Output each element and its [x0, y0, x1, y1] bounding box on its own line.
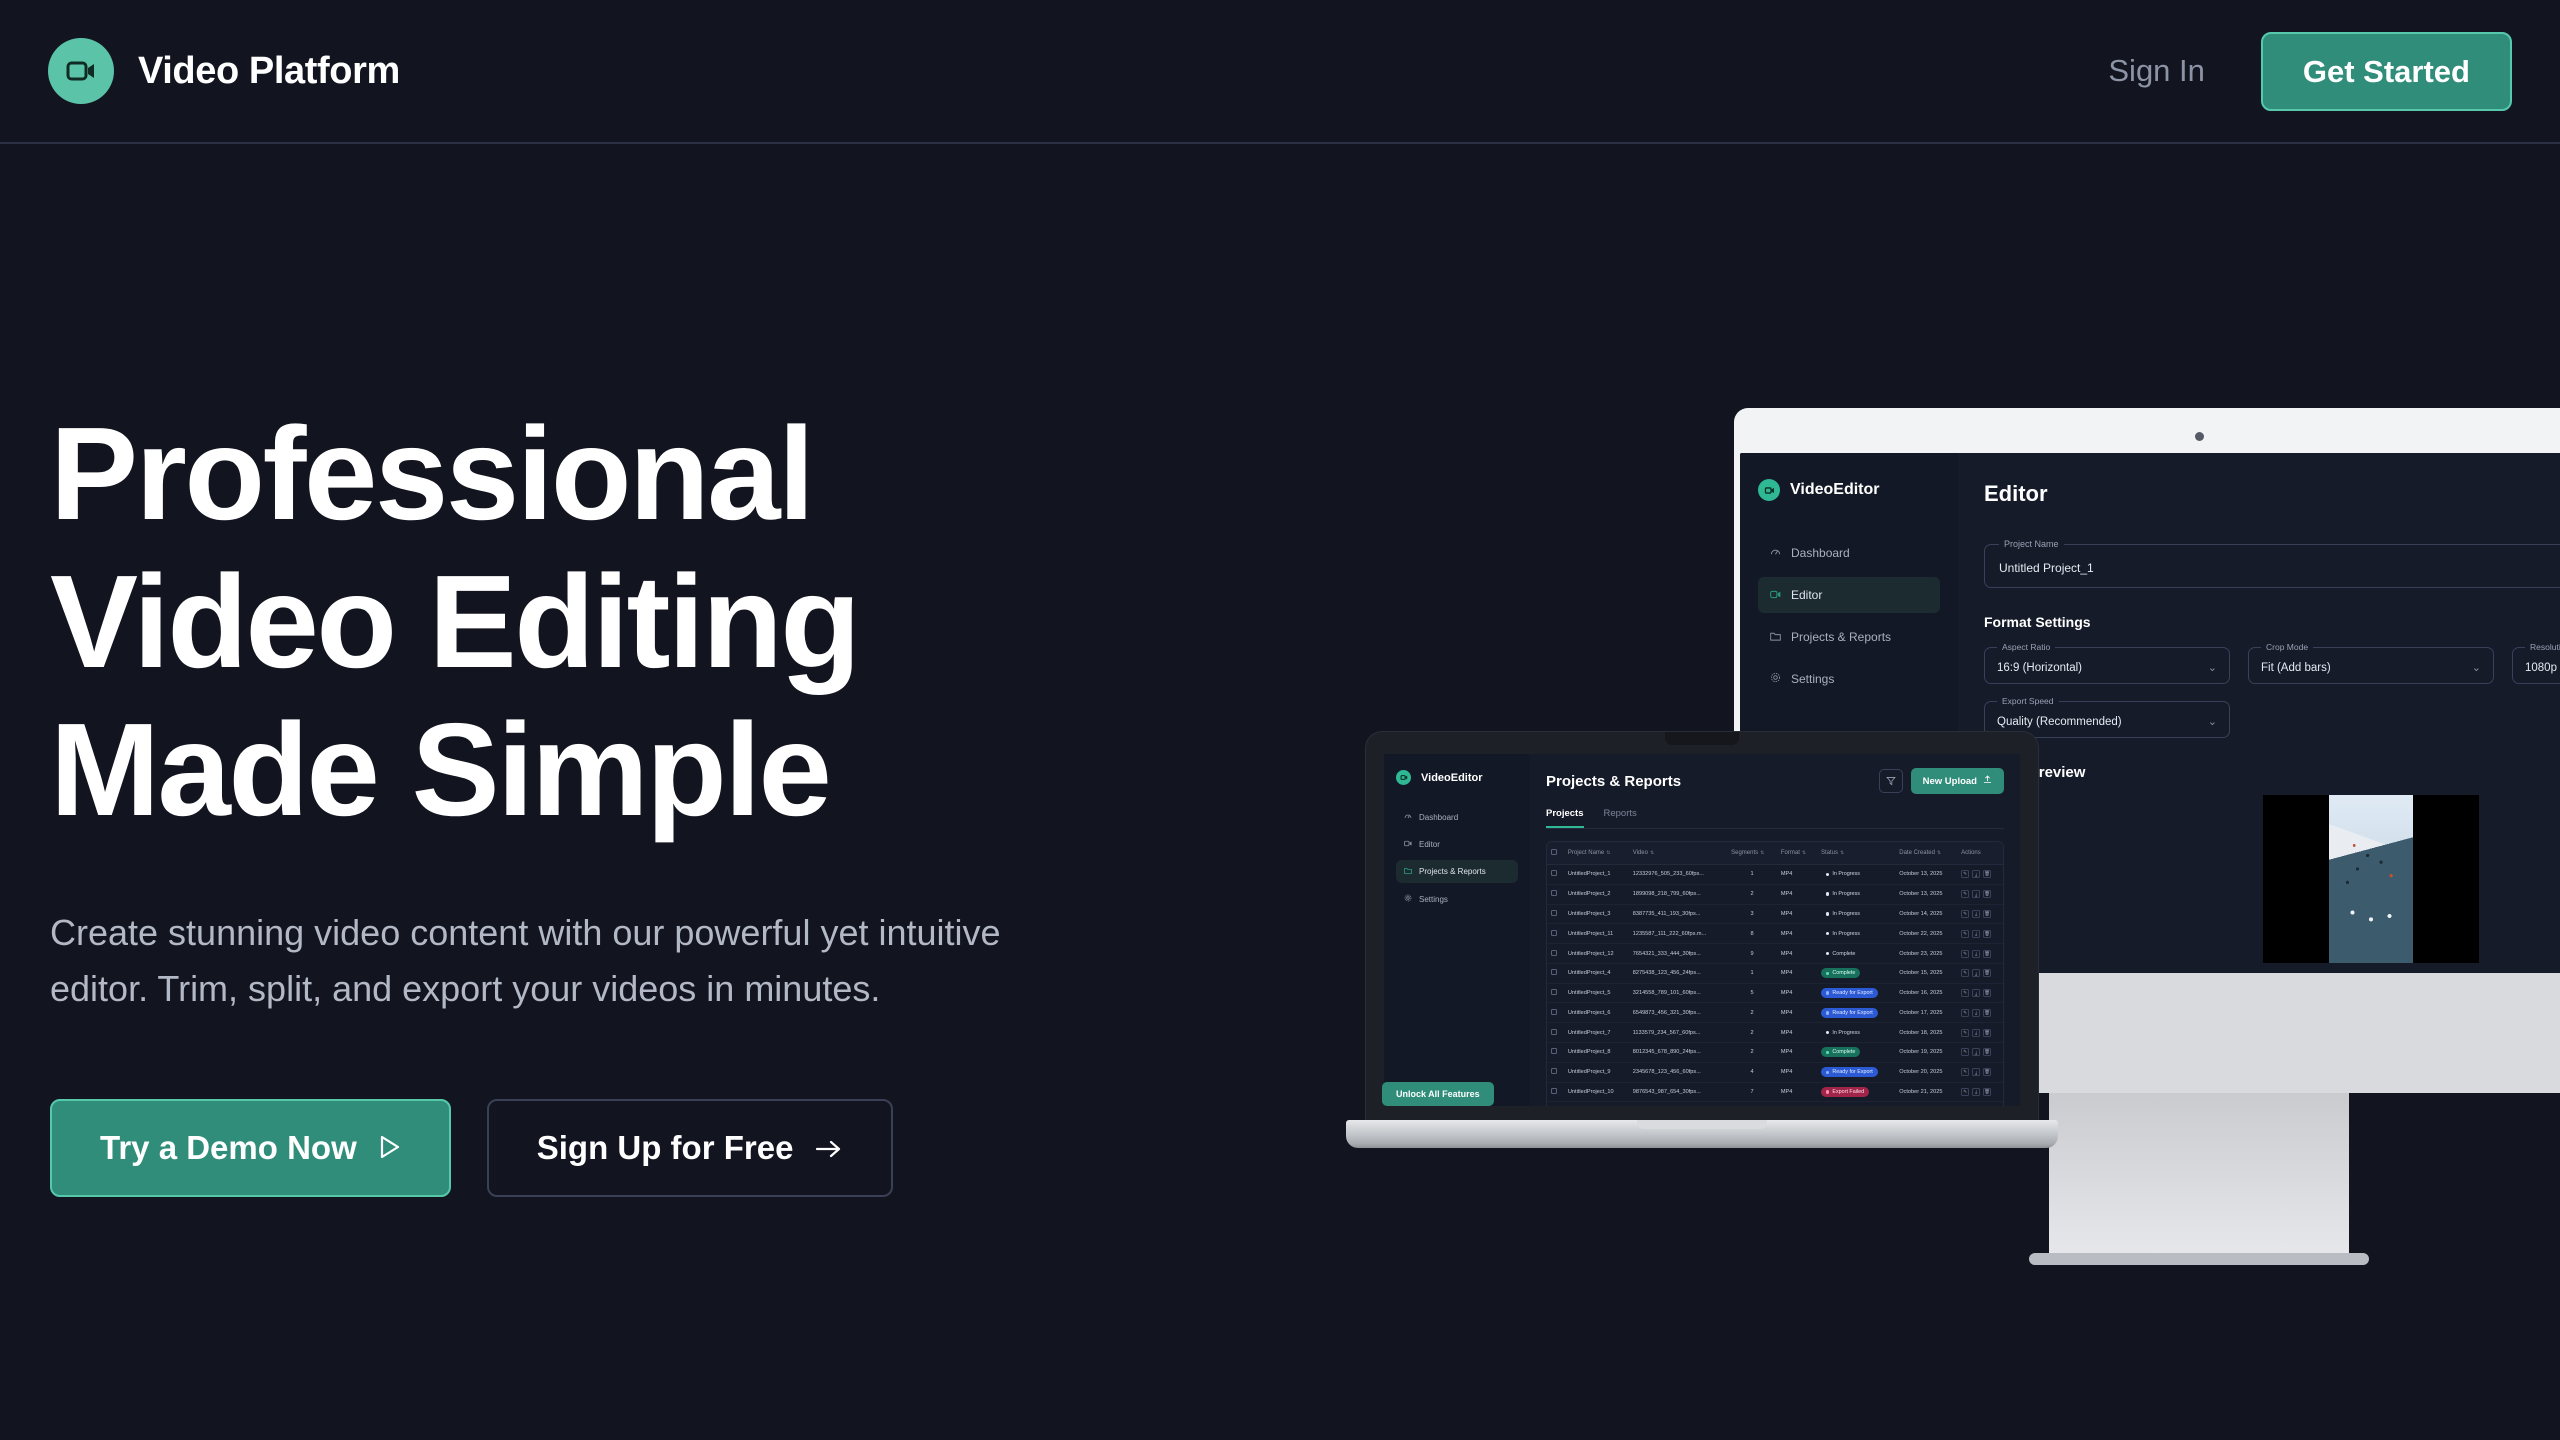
- filter-icon[interactable]: [1879, 769, 1903, 793]
- delete-icon[interactable]: 🗑: [1983, 1048, 1991, 1056]
- cell-actions[interactable]: ✎⤓🗑: [1957, 904, 2003, 924]
- cell-date-created: October 22, 2025: [1895, 924, 1957, 944]
- sidebar-item-editor[interactable]: Editor: [1758, 577, 1940, 613]
- status-label: In Progress: [1832, 911, 1860, 917]
- page-title: Professional Video Editing Made Simple: [50, 400, 1200, 843]
- new-upload-label: New Upload: [1923, 776, 1977, 787]
- sidebar-label: Settings: [1419, 895, 1448, 904]
- checkbox-icon[interactable]: [1551, 1048, 1557, 1054]
- checkbox-icon[interactable]: [1551, 1009, 1557, 1015]
- cell-video: 8012345_678_890_24fps...: [1629, 1043, 1727, 1063]
- sign-in-link[interactable]: Sign In: [2108, 53, 2205, 89]
- status-label: In Progress: [1832, 1030, 1860, 1036]
- unlock-all-features-button[interactable]: Unlock All Features: [1384, 1082, 1494, 1106]
- status-dot-icon: [1826, 952, 1829, 955]
- cell-video: 9876543_987_654_30fps...: [1629, 1082, 1727, 1102]
- cell-select[interactable]: [1547, 944, 1564, 964]
- projects-table-wrapper: Project Name⇅ Video⇅ Segments⇅ Format⇅ S…: [1546, 841, 2004, 1106]
- cell-select[interactable]: [1547, 1043, 1564, 1063]
- tab-reports[interactable]: Reports: [1604, 808, 1637, 828]
- download-icon[interactable]: ⤓: [1972, 870, 1980, 878]
- cell-actions[interactable]: ✎⤓🗑: [1957, 944, 2003, 964]
- delete-icon[interactable]: 🗑: [1983, 910, 1991, 918]
- cell-segments: 10: [1727, 1102, 1777, 1106]
- upload-icon: [1983, 775, 1992, 787]
- crop-mode-label: Crop Mode: [2261, 642, 2313, 652]
- download-icon[interactable]: ⤓: [1972, 950, 1980, 958]
- new-upload-button[interactable]: New Upload: [1911, 768, 2004, 794]
- cell-format: MP4: [1777, 904, 1817, 924]
- sidebar-label: Editor: [1791, 588, 1822, 602]
- edit-icon[interactable]: ✎: [1961, 950, 1969, 958]
- cell-project-name: UntitledProject_3: [1564, 904, 1629, 924]
- editor-nav: Dashboard Editor Projects: [1758, 535, 1940, 697]
- cell-format: MP4: [1777, 1003, 1817, 1023]
- projects-header: Projects & Reports New Upload: [1546, 768, 2004, 794]
- cell-project-name: UntitledProject_11: [1564, 924, 1629, 944]
- cell-status: In Progress: [1817, 884, 1895, 904]
- cell-format: MP4: [1777, 865, 1817, 885]
- status-badge: Export Failed: [1821, 1087, 1869, 1097]
- download-icon[interactable]: ⤓: [1972, 989, 1980, 997]
- cell-actions[interactable]: ✎⤓🗑: [1957, 865, 2003, 885]
- download-icon[interactable]: ⤓: [1972, 1068, 1980, 1076]
- status-badge: Ready for Export: [1821, 988, 1878, 998]
- cell-status: Ready for Export: [1817, 1102, 1895, 1106]
- table-row[interactable]: UntitledProject_71133579_234_567_60fps..…: [1547, 1023, 2003, 1043]
- th-segments[interactable]: Segments⇅: [1727, 842, 1777, 865]
- cell-video: 7654321_333_444_30fps...: [1629, 944, 1727, 964]
- sort-icon: ⇅: [1606, 850, 1610, 856]
- cell-date-created: October 13, 2025: [1895, 865, 1957, 885]
- status-badge: Ready for Export: [1821, 1067, 1878, 1077]
- sidebar-item-dashboard[interactable]: Dashboard: [1396, 805, 1518, 829]
- cell-select[interactable]: [1547, 924, 1564, 944]
- format-settings-heading: Format Settings: [1984, 614, 2560, 630]
- project-name-value: Untitled Project_1: [1999, 561, 2560, 575]
- projects-page-title: Projects & Reports: [1546, 773, 1681, 790]
- status-badge: Complete: [1821, 949, 1860, 959]
- cell-format: MP4: [1777, 884, 1817, 904]
- status-label: In Progress: [1832, 931, 1860, 937]
- cell-segments: 5: [1727, 983, 1777, 1003]
- cell-date-created: October 23, 2025: [1895, 944, 1957, 964]
- cell-segments: 2: [1727, 884, 1777, 904]
- status-dot-icon: [1826, 1071, 1829, 1074]
- status-badge: Ready for Export: [1821, 1008, 1878, 1018]
- table-row[interactable]: UntitledProject_111235587_111_222_60fps.…: [1547, 924, 2003, 944]
- sort-icon: ⇅: [1802, 850, 1806, 856]
- cell-actions[interactable]: ✎⤓🗑: [1957, 924, 2003, 944]
- chevron-down-icon: ⌄: [2208, 661, 2217, 674]
- video-icon: [1404, 840, 1412, 849]
- status-label: Complete: [1832, 951, 1855, 957]
- sort-icon: ⇅: [1840, 850, 1844, 856]
- cell-video: 3214558_789_101_60fps...: [1629, 983, 1727, 1003]
- table-row[interactable]: UntitledProject_53214558_789_101_60fps..…: [1547, 983, 2003, 1003]
- sort-icon: ⇅: [1650, 850, 1654, 856]
- project-name-label: Project Name: [1999, 539, 2064, 549]
- status-badge: In Progress: [1821, 889, 1865, 899]
- checkbox-icon[interactable]: [1551, 1029, 1557, 1035]
- cell-segments: 2: [1727, 1043, 1777, 1063]
- table-row[interactable]: UntitledProject_88012345_678_890_24fps..…: [1547, 1043, 2003, 1063]
- download-icon[interactable]: ⤓: [1972, 930, 1980, 938]
- sidebar-item-settings[interactable]: Settings: [1396, 887, 1518, 911]
- cell-actions[interactable]: ✎⤓🗑: [1957, 963, 2003, 983]
- download-icon[interactable]: ⤓: [1972, 1048, 1980, 1056]
- edit-icon[interactable]: ✎: [1961, 1068, 1969, 1076]
- resolution-label: Resolution: [2525, 642, 2560, 652]
- cell-status: Ready for Export: [1817, 983, 1895, 1003]
- delete-icon[interactable]: 🗑: [1983, 890, 1991, 898]
- sign-up-free-label: Sign Up for Free: [537, 1129, 794, 1167]
- delete-icon[interactable]: 🗑: [1983, 930, 1991, 938]
- cell-actions[interactable]: ✎⤓🗑: [1957, 1003, 2003, 1023]
- cell-project-name: UntitledProject_5: [1564, 983, 1629, 1003]
- cell-format: MP4: [1777, 1043, 1817, 1063]
- cell-project-name: UntitledProject_9: [1564, 1062, 1629, 1082]
- edit-icon[interactable]: ✎: [1961, 989, 1969, 997]
- video-preview-header: Video Preview Video player size: [1984, 764, 2560, 781]
- sidebar-label: Projects & Reports: [1419, 867, 1486, 876]
- th-status[interactable]: Status⇅: [1817, 842, 1895, 865]
- cell-segments: 1: [1727, 865, 1777, 885]
- resolution-value: 1080p (1920x1080): [2525, 662, 2560, 674]
- cell-actions[interactable]: ✎⤓🗑: [1957, 983, 2003, 1003]
- status-label: In Progress: [1832, 891, 1860, 897]
- delete-icon[interactable]: 🗑: [1983, 870, 1991, 878]
- sidebar-label: Editor: [1419, 840, 1440, 849]
- th-actions: Actions: [1957, 842, 2003, 865]
- cell-actions[interactable]: ✎⤓🗑: [1957, 1043, 2003, 1063]
- export-speed-value: Quality (Recommended): [1997, 716, 2122, 728]
- brand-name: Video Platform: [138, 50, 400, 93]
- project-name-field[interactable]: Project Name Untitled Project_1: [1984, 539, 2560, 588]
- folder-icon: [1770, 630, 1781, 644]
- sidebar-label: Dashboard: [1419, 813, 1458, 822]
- cell-video: 1235587_111_222_60fps.m...: [1629, 924, 1727, 944]
- cell-select[interactable]: [1547, 1003, 1564, 1023]
- projects-main: Projects & Reports New Upload: [1530, 754, 2020, 1106]
- videoeditor-logo-icon: [1396, 770, 1411, 785]
- site-header: Video Platform Sign In Get Started: [0, 0, 2560, 144]
- cell-date-created: October 17, 2025: [1895, 1003, 1957, 1023]
- cell-actions[interactable]: ✎⤓🗑: [1957, 1062, 2003, 1082]
- delete-icon[interactable]: 🗑: [1983, 1029, 1991, 1037]
- cell-segments: 7: [1727, 1082, 1777, 1102]
- th-date-created[interactable]: Date Created⇅: [1895, 842, 1957, 865]
- laptop-lid: VideoEditor Dashboard: [1366, 732, 2038, 1120]
- edit-icon[interactable]: ✎: [1961, 890, 1969, 898]
- status-badge: Complete: [1821, 1047, 1860, 1057]
- cell-date-created: October 21, 2025: [1895, 1082, 1957, 1102]
- cell-format: MP4: [1777, 1082, 1817, 1102]
- cell-actions[interactable]: ✎⤓🗑: [1957, 1023, 2003, 1043]
- try-demo-button[interactable]: Try a Demo Now: [50, 1099, 451, 1197]
- table-row[interactable]: UntitledProject_38387735_411_193_30fps..…: [1547, 904, 2003, 924]
- crop-mode-select[interactable]: Crop Mode Fit (Add bars) ⌄: [2248, 642, 2494, 684]
- cell-video: 8387735_411_193_30fps...: [1629, 904, 1727, 924]
- gauge-icon: [1770, 546, 1781, 560]
- table-row[interactable]: UntitledProject_127654321_333_444_30fps.…: [1547, 944, 2003, 964]
- cell-select[interactable]: [1547, 884, 1564, 904]
- status-dot-icon: [1826, 1011, 1829, 1014]
- sidebar-label: Projects & Reports: [1791, 630, 1891, 644]
- cell-format: MP4: [1777, 983, 1817, 1003]
- table-row[interactable]: UntitledProject_66549873_456_321_30fps..…: [1547, 1003, 2003, 1023]
- status-dot-icon: [1826, 1090, 1829, 1093]
- cell-video: 8275438_123_456_24fps...: [1629, 963, 1727, 983]
- download-icon[interactable]: ⤓: [1972, 1009, 1980, 1017]
- cell-project-name: UntitledProject_6: [1564, 1003, 1629, 1023]
- header-actions: Sign In Get Started: [2108, 32, 2512, 111]
- table-row[interactable]: UntitledProject_48275438_123_456_24fps..…: [1547, 963, 2003, 983]
- play-triangle-icon: [379, 1129, 401, 1167]
- projects-tabs: Projects Reports: [1546, 808, 2004, 829]
- projects-brand-label: VideoEditor: [1421, 772, 1483, 784]
- checkbox-icon[interactable]: [1551, 950, 1557, 956]
- checkbox-icon[interactable]: [1551, 849, 1557, 855]
- video-icon: [1770, 588, 1781, 602]
- table-body: UntitledProject_112332976_505_233_60fps.…: [1547, 865, 2003, 1107]
- th-video[interactable]: Video⇅: [1629, 842, 1727, 865]
- cell-project-name: UntitledProject_8: [1564, 1043, 1629, 1063]
- edit-icon[interactable]: ✎: [1961, 969, 1969, 977]
- gear-icon: [1404, 894, 1412, 904]
- delete-icon[interactable]: 🗑: [1983, 989, 1991, 997]
- chevron-down-icon: ⌄: [2472, 661, 2481, 674]
- cell-status: Ready for Export: [1817, 1003, 1895, 1023]
- editor-topbar: Editor Save Exp: [1984, 475, 2560, 513]
- edit-icon[interactable]: ✎: [1961, 910, 1969, 918]
- arrow-right-icon: [815, 1129, 843, 1167]
- laptop-screen: VideoEditor Dashboard: [1384, 754, 2020, 1106]
- status-dot-icon: [1826, 1031, 1829, 1034]
- cell-date-created: October 20, 2025: [1895, 1062, 1957, 1082]
- status-dot-icon: [1826, 972, 1829, 975]
- cell-status: Complete: [1817, 963, 1895, 983]
- editor-page-title: Editor: [1984, 481, 2048, 507]
- video-camera-icon: [48, 38, 114, 104]
- video-player-preview[interactable]: [2263, 795, 2479, 963]
- cell-status: In Progress: [1817, 904, 1895, 924]
- cell-select[interactable]: [1547, 983, 1564, 1003]
- cell-project-name: UntitledProject_12: [1564, 944, 1629, 964]
- cell-status: Complete: [1817, 1043, 1895, 1063]
- sidebar-item-dashboard[interactable]: Dashboard: [1758, 535, 1940, 571]
- download-icon[interactable]: ⤓: [1972, 910, 1980, 918]
- resolution-select[interactable]: Resolution 1080p (1920x1080) ⌄: [2512, 642, 2560, 684]
- sidebar-label: Settings: [1791, 672, 1834, 686]
- th-project-name[interactable]: Project Name⇅: [1564, 842, 1629, 865]
- projects-header-actions: New Upload: [1879, 768, 2004, 794]
- status-dot-icon: [1826, 912, 1829, 915]
- cell-date-created: October 15, 2025: [1895, 963, 1957, 983]
- cell-select[interactable]: [1547, 1023, 1564, 1043]
- delete-icon[interactable]: 🗑: [1983, 1068, 1991, 1076]
- download-icon[interactable]: ⤓: [1972, 1029, 1980, 1037]
- sidebar-label: Dashboard: [1791, 546, 1850, 560]
- sidebar-item-settings[interactable]: Settings: [1758, 661, 1940, 697]
- hero-cta-group: Try a Demo Now Sign Up for Free: [50, 1099, 1200, 1197]
- cell-select[interactable]: [1547, 1102, 1564, 1106]
- cell-actions[interactable]: ✎⤓🗑: [1957, 884, 2003, 904]
- aspect-ratio-label: Aspect Ratio: [1997, 642, 2055, 652]
- cell-date-created: October 19, 2025: [1895, 1043, 1957, 1063]
- status-label: Complete: [1832, 1049, 1855, 1055]
- sidebar-item-editor[interactable]: Editor: [1396, 833, 1518, 856]
- sort-icon: ⇅: [1760, 850, 1764, 856]
- status-label: Export Failed: [1832, 1089, 1864, 1095]
- format-settings-row-2: Export Speed Quality (Recommended) ⌄: [1984, 696, 2560, 738]
- status-badge: In Progress: [1821, 869, 1865, 879]
- th-format[interactable]: Format⇅: [1777, 842, 1817, 865]
- status-dot-icon: [1826, 1051, 1829, 1054]
- status-dot-icon: [1826, 932, 1829, 935]
- edit-icon[interactable]: ✎: [1961, 930, 1969, 938]
- download-icon[interactable]: ⤓: [1972, 1088, 1980, 1096]
- status-dot-icon: [1826, 991, 1829, 994]
- cell-date-created: October 13, 2025: [1895, 884, 1957, 904]
- cell-project-name: UntitledProject_13: [1564, 1102, 1629, 1106]
- table-row[interactable]: UntitledProject_92345678_123_456_60fps..…: [1547, 1062, 2003, 1082]
- cell-select[interactable]: [1547, 963, 1564, 983]
- sign-up-free-button[interactable]: Sign Up for Free: [487, 1099, 894, 1197]
- cell-status: Export Failed: [1817, 1082, 1895, 1102]
- cell-actions[interactable]: ✎⤓🗑: [1957, 1102, 2003, 1106]
- projects-brand: VideoEditor: [1396, 770, 1518, 785]
- cell-project-name: UntitledProject_4: [1564, 963, 1629, 983]
- brand[interactable]: Video Platform: [48, 38, 400, 104]
- cell-format: MP4: [1777, 1062, 1817, 1082]
- sidebar-item-projects-reports[interactable]: Projects & Reports: [1758, 619, 1940, 655]
- th-select-all[interactable]: [1547, 842, 1564, 865]
- cell-date-created: October 16, 2025: [1895, 983, 1957, 1003]
- cell-project-name: UntitledProject_1: [1564, 865, 1629, 885]
- cell-project-name: UntitledProject_7: [1564, 1023, 1629, 1043]
- laptop-camera-notch: [1665, 732, 1739, 745]
- cell-segments: 1: [1727, 963, 1777, 983]
- delete-icon[interactable]: 🗑: [1983, 950, 1991, 958]
- status-label: Ready for Export: [1832, 1069, 1872, 1075]
- get-started-button[interactable]: Get Started: [2261, 32, 2512, 111]
- cell-select[interactable]: [1547, 1082, 1564, 1102]
- sidebar-item-projects-reports[interactable]: Projects & Reports: [1396, 860, 1518, 883]
- cell-status: In Progress: [1817, 924, 1895, 944]
- edit-icon[interactable]: ✎: [1961, 1029, 1969, 1037]
- table-header-row: Project Name⇅ Video⇅ Segments⇅ Format⇅ S…: [1547, 842, 2003, 865]
- cell-format: MP4: [1777, 963, 1817, 983]
- monitor-camera-icon: [2195, 432, 2204, 441]
- table-row[interactable]: UntitledProject_21899098_218_799_60fps..…: [1547, 884, 2003, 904]
- cell-segments: 3: [1727, 904, 1777, 924]
- cell-segments: 8: [1727, 924, 1777, 944]
- cell-format: MP4: [1777, 944, 1817, 964]
- download-icon[interactable]: ⤓: [1972, 890, 1980, 898]
- editor-brand-label: VideoEditor: [1790, 481, 1880, 499]
- cell-segments: 2: [1727, 1003, 1777, 1023]
- aspect-ratio-value: 16:9 (Horizontal): [1997, 662, 2082, 674]
- cell-status: Ready for Export: [1817, 1062, 1895, 1082]
- checkbox-icon[interactable]: [1551, 890, 1557, 896]
- export-speed-label: Export Speed: [1997, 696, 2059, 706]
- cell-format: MP4: [1777, 924, 1817, 944]
- cell-video: 12332976_505_233_60fps...: [1629, 865, 1727, 885]
- editor-brand: VideoEditor: [1758, 479, 1940, 501]
- checkbox-icon[interactable]: [1551, 930, 1557, 936]
- projects-nav: Dashboard Editor Projects: [1396, 805, 1518, 911]
- tab-projects[interactable]: Projects: [1546, 808, 1584, 828]
- delete-icon[interactable]: 🗑: [1983, 1088, 1991, 1096]
- cell-status: Complete: [1817, 944, 1895, 964]
- cell-date-created: October 14, 2025: [1895, 904, 1957, 924]
- cell-select[interactable]: [1547, 904, 1564, 924]
- cell-video: 6549873_456_321_30fps...: [1629, 1003, 1727, 1023]
- status-label: Complete: [1832, 970, 1855, 976]
- table-row[interactable]: UntitledProject_112332976_505_233_60fps.…: [1547, 865, 2003, 885]
- laptop-mockup: VideoEditor Dashboard: [1366, 732, 2038, 1148]
- cell-date-created: October 18, 2025: [1895, 1023, 1957, 1043]
- hero-section: Professional Video Editing Made Simple C…: [0, 144, 1200, 1197]
- aspect-ratio-select[interactable]: Aspect Ratio 16:9 (Horizontal) ⌄: [1984, 642, 2230, 684]
- cell-segments: 2: [1727, 1023, 1777, 1043]
- monitor-stand: [2049, 1093, 2349, 1253]
- status-label: Ready for Export: [1832, 1010, 1872, 1016]
- try-demo-label: Try a Demo Now: [100, 1129, 357, 1167]
- cell-video: 1357924_555_666_60fps...: [1629, 1102, 1727, 1106]
- checkbox-icon[interactable]: [1551, 870, 1557, 876]
- status-badge: In Progress: [1821, 929, 1865, 939]
- laptop-base: [1346, 1120, 2058, 1148]
- edit-icon[interactable]: ✎: [1961, 1009, 1969, 1017]
- chevron-down-icon: ⌄: [2208, 715, 2217, 728]
- cell-status: In Progress: [1817, 865, 1895, 885]
- table-row[interactable]: UntitledProject_131357924_555_666_60fps.…: [1547, 1102, 2003, 1106]
- delete-icon[interactable]: 🗑: [1983, 1009, 1991, 1017]
- status-label: In Progress: [1832, 871, 1860, 877]
- status-dot-icon: [1826, 892, 1829, 895]
- preview-thumbnail-image: [2329, 795, 2413, 963]
- checkbox-icon[interactable]: [1551, 910, 1557, 916]
- projects-table: Project Name⇅ Video⇅ Segments⇅ Format⇅ S…: [1547, 842, 2003, 1106]
- hero-subtitle: Create stunning video content with our p…: [50, 905, 1130, 1017]
- cell-select[interactable]: [1547, 1062, 1564, 1082]
- cell-select[interactable]: [1547, 865, 1564, 885]
- table-row[interactable]: UntitledProject_109876543_987_654_30fps.…: [1547, 1082, 2003, 1102]
- status-badge: In Progress: [1821, 1028, 1865, 1038]
- edit-icon[interactable]: ✎: [1961, 870, 1969, 878]
- edit-icon[interactable]: ✎: [1961, 1048, 1969, 1056]
- projects-sidebar: VideoEditor Dashboard: [1384, 754, 1530, 1106]
- status-badge: Complete: [1821, 968, 1860, 978]
- videoeditor-logo-icon: [1758, 479, 1780, 501]
- status-label: Ready for Export: [1832, 990, 1872, 996]
- cell-project-name: UntitledProject_2: [1564, 884, 1629, 904]
- editor-main: Editor Save Exp Project Na: [1958, 453, 2560, 973]
- crop-mode-value: Fit (Add bars): [2261, 662, 2331, 674]
- checkbox-icon[interactable]: [1551, 989, 1557, 995]
- edit-icon[interactable]: ✎: [1961, 1088, 1969, 1096]
- format-settings-row-1: Aspect Ratio 16:9 (Horizontal) ⌄ Crop Mo…: [1984, 642, 2560, 684]
- checkbox-icon[interactable]: [1551, 969, 1557, 975]
- sort-icon: ⇅: [1937, 850, 1941, 856]
- download-icon[interactable]: ⤓: [1972, 969, 1980, 977]
- cell-actions[interactable]: ✎⤓🗑: [1957, 1082, 2003, 1102]
- checkbox-icon[interactable]: [1551, 1068, 1557, 1074]
- delete-icon[interactable]: 🗑: [1983, 969, 1991, 977]
- checkbox-icon[interactable]: [1551, 1088, 1557, 1094]
